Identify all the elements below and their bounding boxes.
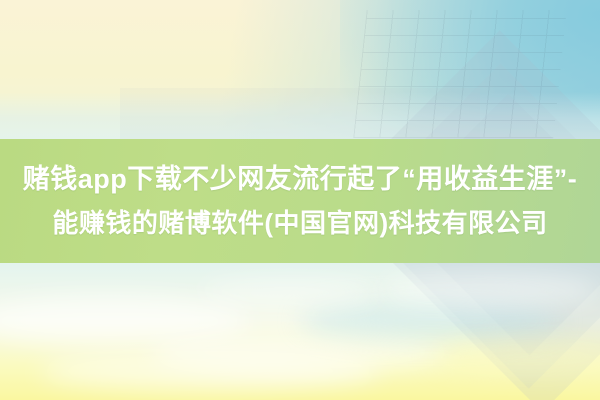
ghost-grid-artifact [353, 10, 566, 138]
promo-banner: 赌钱app下载不少网友流行起了“用收益生涯”- 能赚钱的赌博软件(中国官网)科技… [0, 0, 600, 400]
headline-line-2: 能赚钱的赌博软件(中国官网)科技有限公司 [52, 201, 547, 245]
headline-band: 赌钱app下载不少网友流行起了“用收益生涯”- 能赚钱的赌博软件(中国官网)科技… [0, 139, 600, 263]
headline-line-1: 赌钱app下载不少网友流行起了“用收益生涯”- [23, 157, 578, 201]
